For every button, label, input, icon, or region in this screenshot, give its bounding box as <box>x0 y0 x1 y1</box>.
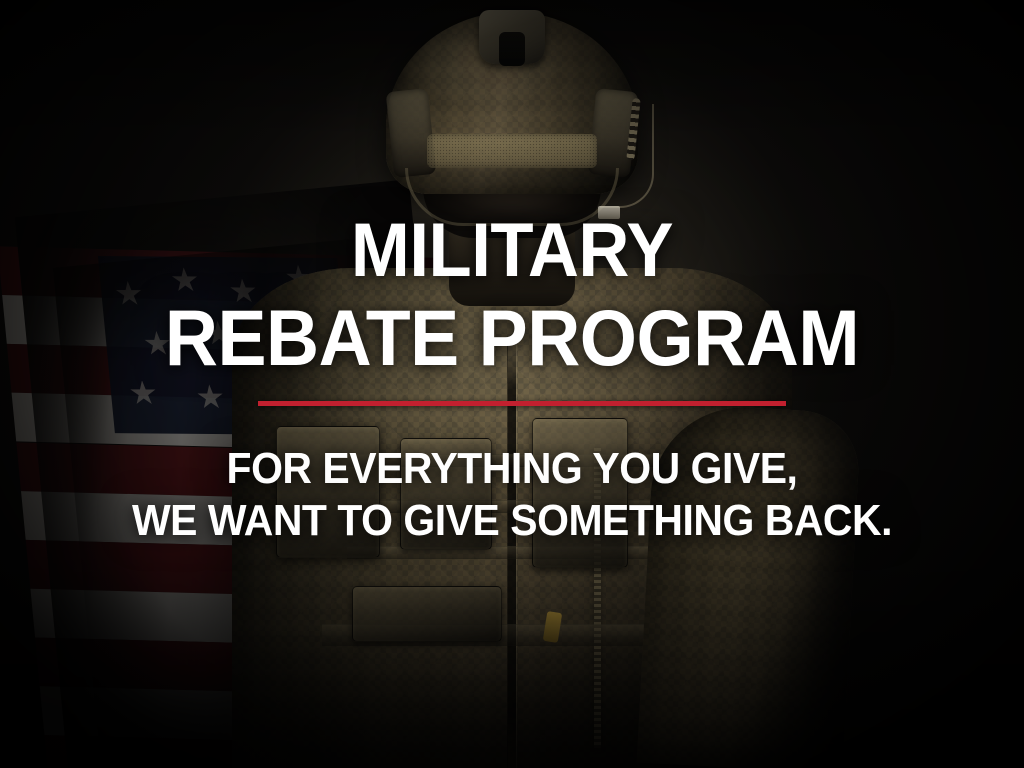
right-edge-shadow <box>724 250 1024 768</box>
soldier-figure <box>0 0 1024 768</box>
gear-pouch <box>400 438 492 550</box>
night-vision-mount-icon <box>479 10 545 64</box>
tactical-helmet-icon <box>386 12 638 194</box>
velcro-brow-patch <box>427 134 597 168</box>
gear-pouch <box>352 586 502 642</box>
military-rebate-banner: MILITARY REBATE PROGRAM FOR EVERYTHING Y… <box>0 0 1024 768</box>
chin-strap <box>405 168 619 226</box>
helmet-tag <box>598 206 620 219</box>
comms-wire-icon <box>600 104 654 208</box>
background-photo <box>0 0 1024 768</box>
gear-pouch <box>276 426 380 558</box>
gear-pouch <box>532 418 628 568</box>
